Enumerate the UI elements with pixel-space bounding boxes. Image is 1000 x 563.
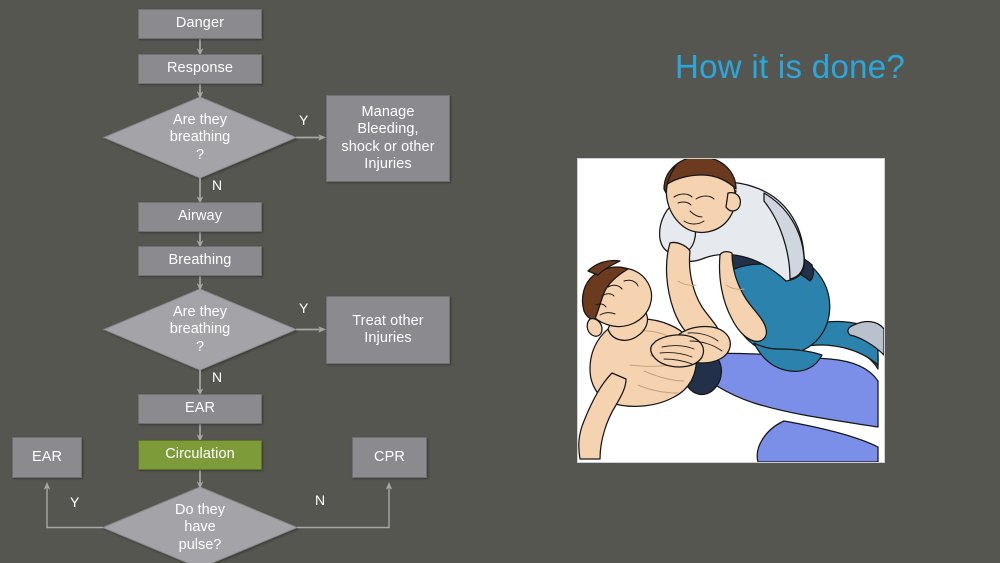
page-title: How it is done? [600,48,980,86]
node-cpr-label: CPR [374,449,405,466]
node-airway[interactable]: Airway [138,202,262,232]
node-manage-line2: Bleeding, [357,121,418,138]
edge-label-q1-yes: Y [299,112,308,128]
flowchart-connectors-and-shapes [0,0,500,563]
node-manage-line3: shock or other [341,139,434,156]
cpr-chest-compression-icon [578,159,884,462]
edge-label-q2-no: N [212,369,222,385]
node-manage-bleeding[interactable]: Manage Bleeding, shock or other Injuries [326,95,450,182]
node-treat-other-injuries[interactable]: Treat other Injuries [326,296,450,364]
edge-label-pulse-no: N [315,492,325,508]
edge-label-q2-yes: Y [299,300,308,316]
node-ear-center-label: EAR [185,400,215,417]
node-breathing-label: Breathing [169,252,232,269]
decision-shape-breathing-q1[interactable] [104,97,296,178]
cpr-illustration [577,158,885,463]
edge-pulse-no-to-cpr [297,486,389,528]
node-ear-center[interactable]: EAR [138,394,262,424]
node-breathing[interactable]: Breathing [138,246,262,276]
node-circulation-label: Circulation [165,446,235,463]
flowchart-diagram: Danger Response Manage Bleeding, shock o… [0,0,500,563]
node-ear-left-label: EAR [32,449,62,466]
slide-canvas: Danger Response Manage Bleeding, shock o… [0,0,1000,563]
edge-label-q1-no: N [212,177,222,193]
node-airway-label: Airway [178,208,222,225]
node-cpr[interactable]: CPR [352,437,427,478]
decision-shape-pulse[interactable] [103,487,297,563]
node-treat-line2: Injuries [364,330,412,347]
node-circulation[interactable]: Circulation [138,440,262,470]
node-ear-left[interactable]: EAR [12,437,82,478]
node-manage-line1: Manage [362,104,415,121]
node-manage-line4: Injuries [364,156,412,173]
node-treat-line1: Treat other [352,313,423,330]
node-response-label: Response [167,60,233,77]
edge-label-pulse-yes: Y [70,494,79,510]
decision-shape-breathing-q2[interactable] [104,289,296,370]
node-response[interactable]: Response [138,54,262,84]
node-danger[interactable]: Danger [138,9,262,39]
node-danger-label: Danger [176,15,224,32]
